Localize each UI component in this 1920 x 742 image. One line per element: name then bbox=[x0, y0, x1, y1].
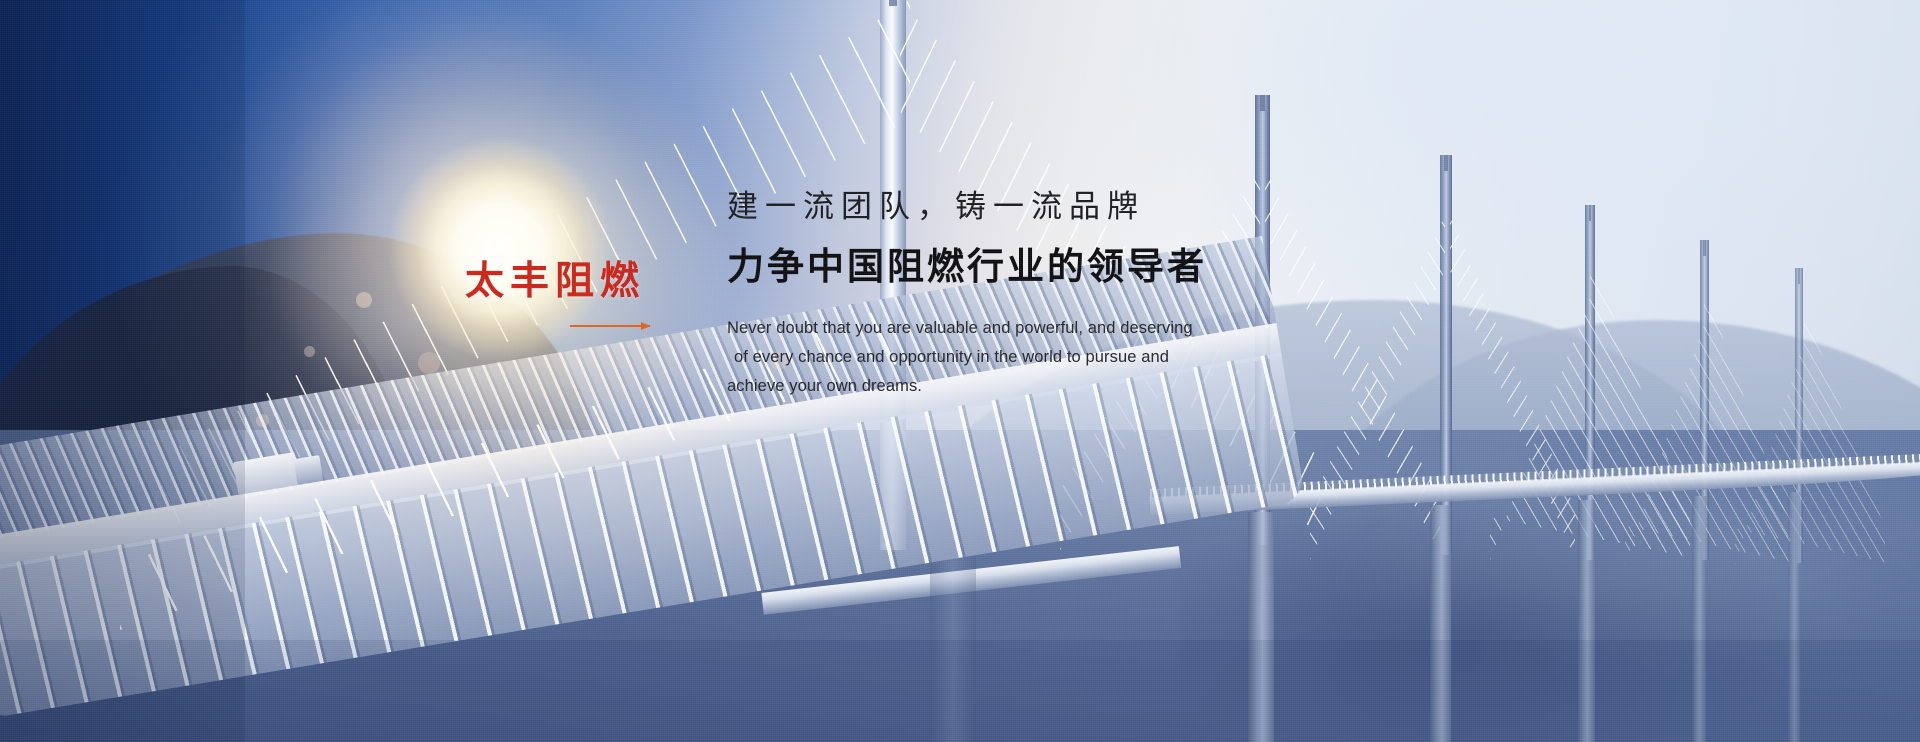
brand-logo[interactable]: 太丰阻燃 bbox=[465, 262, 725, 327]
banner-content: 太丰阻燃 建一流团队，铸一流品牌 力争中国阻燃行业的领导者 Never doub… bbox=[0, 0, 1920, 742]
paragraph-line-2: of every chance and opportunity in the w… bbox=[727, 343, 1427, 372]
brand-logo-text: 太丰阻燃 bbox=[465, 262, 725, 301]
hero-banner: 太丰阻燃 建一流团队，铸一流品牌 力争中国阻燃行业的领导者 Never doub… bbox=[0, 0, 1920, 742]
banner-text-block: 建一流团队，铸一流品牌 力争中国阻燃行业的领导者 Never doubt tha… bbox=[727, 190, 1427, 401]
headline-title: 力争中国阻燃行业的领导者 bbox=[727, 247, 1427, 288]
paragraph-line-3: achieve your own dreams. bbox=[727, 372, 1427, 401]
arrow-right-icon bbox=[570, 325, 650, 327]
banner-paragraph: Never doubt that you are valuable and po… bbox=[727, 314, 1427, 401]
paragraph-line-1: Never doubt that you are valuable and po… bbox=[727, 314, 1427, 343]
headline-subtitle: 建一流团队，铸一流品牌 bbox=[727, 190, 1427, 224]
